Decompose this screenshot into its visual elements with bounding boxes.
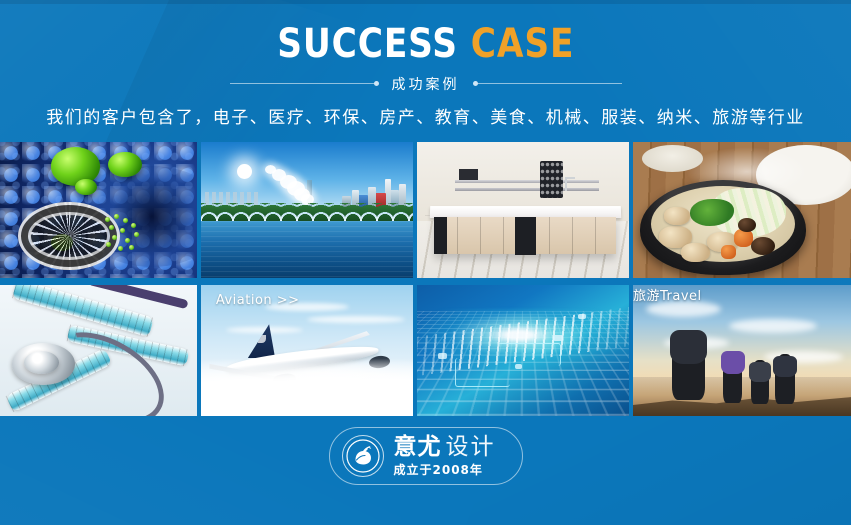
smoke-plume [260, 161, 345, 207]
gallery-tile-laboratory[interactable] [417, 142, 629, 278]
gallery-tile-medical[interactable] [0, 285, 197, 416]
title-word-case: CASE [470, 21, 574, 67]
tagline-text: 我们的客户包含了，电子、医疗、环保、房产、教育、美食、机械、服装、纳米、旅游等行… [0, 103, 851, 128]
subtitle-row: 成功案例 [0, 74, 851, 94]
gallery-tile-environmental[interactable] [201, 142, 413, 278]
logo-brand-name: 意尤 [394, 436, 442, 459]
travel-image [633, 285, 851, 416]
logo-brand-suffix: 设计 [446, 436, 496, 459]
gallery-tile-aviation[interactable]: Aviation >> [201, 285, 413, 416]
nanotech-image [0, 142, 197, 278]
success-case-banner: SUCCESS CASE 成功案例 我们的客户包含了，电子、医疗、环保、房产、教… [0, 0, 851, 525]
logo-established-text: 成立于2008年 [394, 464, 483, 476]
medical-image [0, 285, 197, 416]
gallery-tile-travel[interactable]: 旅游Travel [633, 285, 851, 416]
aviation-caption: Aviation >> [216, 293, 300, 308]
page-title: SUCCESS CASE [277, 24, 574, 64]
company-logo-badge[interactable]: 意尤 设计 成立于2008年 [329, 427, 523, 485]
travel-caption: 旅游Travel [633, 285, 702, 304]
decorative-line-left [230, 83, 378, 85]
logo-text-block: 意尤 设计 成立于2008年 [394, 436, 496, 476]
laboratory-image [417, 142, 629, 278]
food-hotpot-image [633, 142, 851, 278]
gallery-tile-electronics[interactable] [417, 285, 629, 416]
case-gallery-grid: Aviation >> [0, 142, 851, 416]
footer-logo-area: 意尤 设计 成立于2008年 [0, 427, 851, 485]
mouse-bird-logo-icon [342, 435, 384, 477]
gallery-tile-food[interactable] [633, 142, 851, 278]
environmental-image [201, 142, 413, 278]
subtitle-chinese: 成功案例 [388, 74, 464, 94]
title-word-success: SUCCESS [277, 21, 458, 67]
electronics-image [417, 285, 629, 416]
gallery-tile-nanotech[interactable] [0, 142, 197, 278]
decorative-line-right [474, 83, 622, 85]
nano-particles [102, 213, 153, 254]
banner-header: SUCCESS CASE 成功案例 我们的客户包含了，电子、医疗、环保、房产、教… [0, 0, 851, 128]
